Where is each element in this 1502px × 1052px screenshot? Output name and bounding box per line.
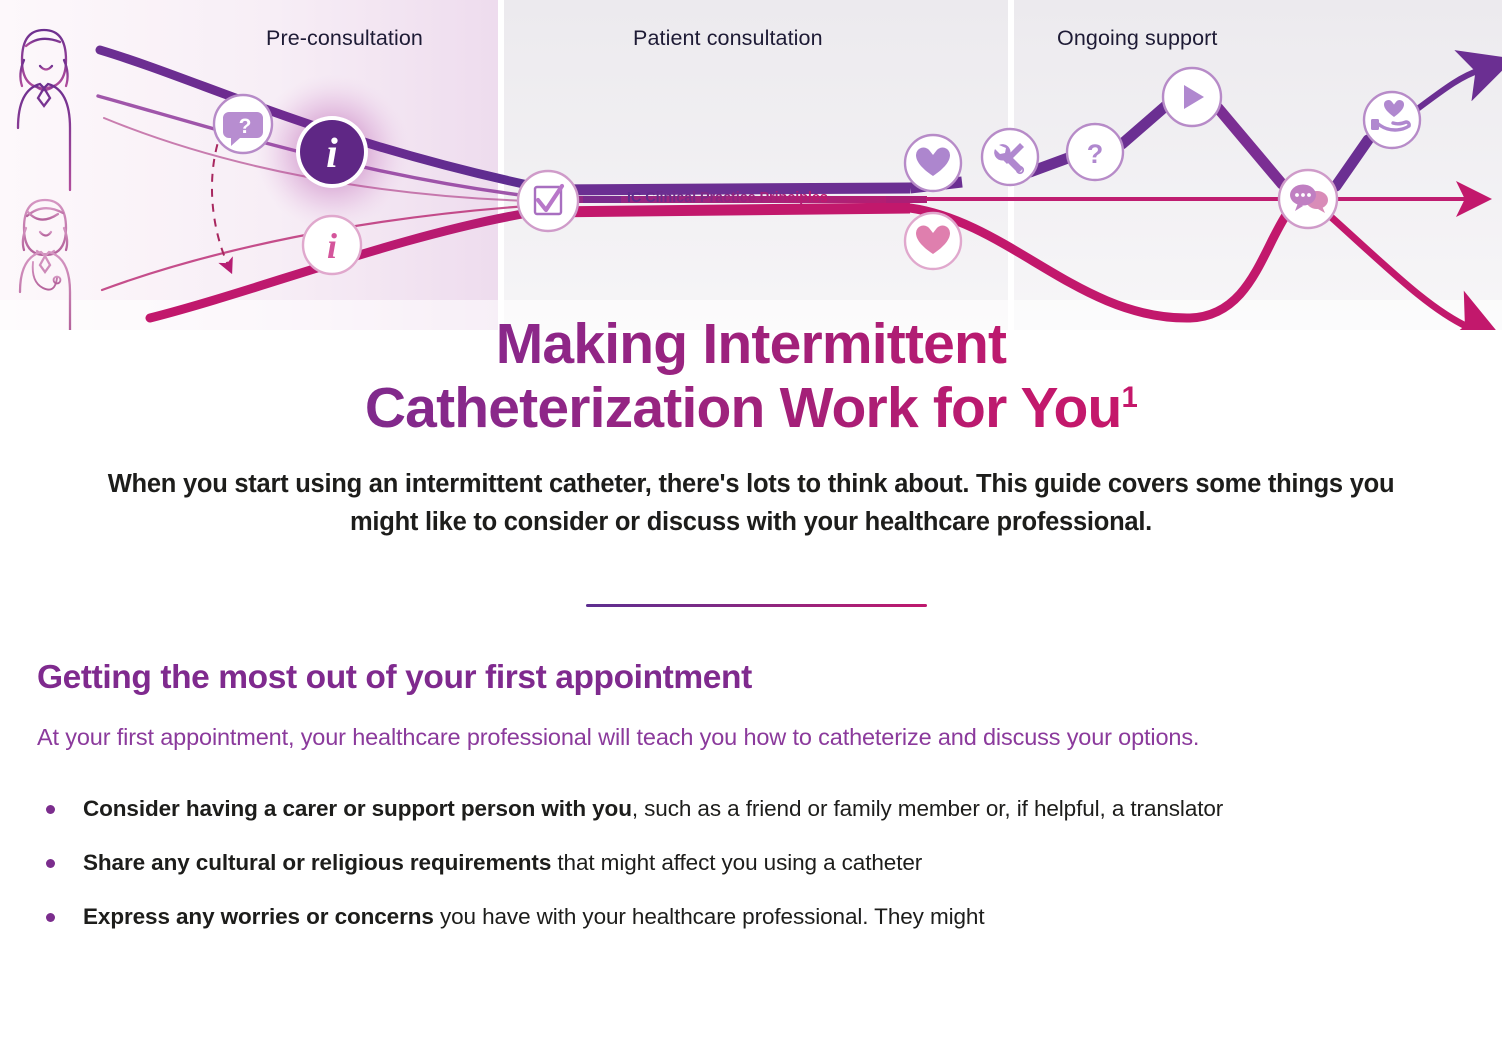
- list-item-bold: Consider having a carer or support perso…: [83, 796, 632, 821]
- list-item: Share any cultural or religious requirem…: [37, 847, 1448, 879]
- bullet-dot-icon: [46, 913, 55, 922]
- list-item-bold: Share any cultural or religious requirem…: [83, 850, 551, 875]
- svg-text:?: ?: [239, 115, 252, 138]
- header-journey-graphic: ? i i: [0, 0, 1502, 330]
- stage-label-patient-consultation: Patient consultation: [633, 26, 823, 51]
- page-title-line-2: Catheterization Work for You: [365, 376, 1122, 440]
- play-button-icon: [1163, 68, 1221, 126]
- information-filled-icon: i: [296, 116, 368, 188]
- list-item-rest: , such as a friend or family member or, …: [632, 796, 1223, 821]
- tools-icon: [982, 129, 1038, 185]
- page-title-line-1: Making Intermittent: [496, 312, 1007, 376]
- page-title: Making Intermittent Catheterization Work…: [365, 312, 1137, 441]
- bullet-dot-icon: [46, 805, 55, 814]
- list-item-rest: you have with your healthcare profession…: [434, 904, 985, 929]
- question-mark-icon: ?: [1067, 124, 1123, 180]
- stage-label-ongoing-support: Ongoing support: [1057, 26, 1217, 51]
- checklist-icon: [518, 171, 578, 231]
- bullet-dot-icon: [46, 859, 55, 868]
- section-heading: Getting the most out of your first appoi…: [37, 658, 1437, 698]
- title-block: Making Intermittent Catheterization Work…: [0, 312, 1502, 441]
- principles-dash-right: [886, 196, 926, 203]
- stage-label-pre-consultation: Pre-consultation: [266, 26, 423, 51]
- svg-text:?: ?: [1087, 139, 1104, 169]
- heart-pink-icon: [905, 213, 961, 269]
- list-item-bold: Express any worries or concerns: [83, 904, 434, 929]
- appointment-tips-list: Consider having a carer or support perso…: [37, 793, 1437, 934]
- intro-paragraph: When you start using an intermittent cat…: [79, 465, 1424, 542]
- heart-purple-icon: [905, 135, 961, 191]
- information-outline-icon: i: [303, 216, 361, 274]
- ic-clinical-practice-principles-label: IC Clinical Practice Principles: [627, 190, 828, 206]
- list-item-rest: that might affect you using a catheter: [551, 850, 922, 875]
- first-appointment-section: Getting the most out of your first appoi…: [37, 658, 1437, 956]
- svg-text:i: i: [327, 226, 337, 266]
- principles-dash-left: [583, 196, 621, 203]
- footnote-marker: 1: [1122, 381, 1138, 414]
- intro-divider: [586, 604, 927, 607]
- list-item: Consider having a carer or support perso…: [37, 793, 1448, 825]
- list-item: Express any worries or concerns you have…: [37, 901, 1448, 933]
- svg-text:i: i: [326, 131, 338, 177]
- chat-bubbles-icon: [1279, 170, 1337, 228]
- question-speech-bubble-icon: ?: [214, 95, 272, 153]
- hand-heart-icon: [1364, 92, 1420, 148]
- section-intro-text: At your first appointment, your healthca…: [37, 721, 1382, 754]
